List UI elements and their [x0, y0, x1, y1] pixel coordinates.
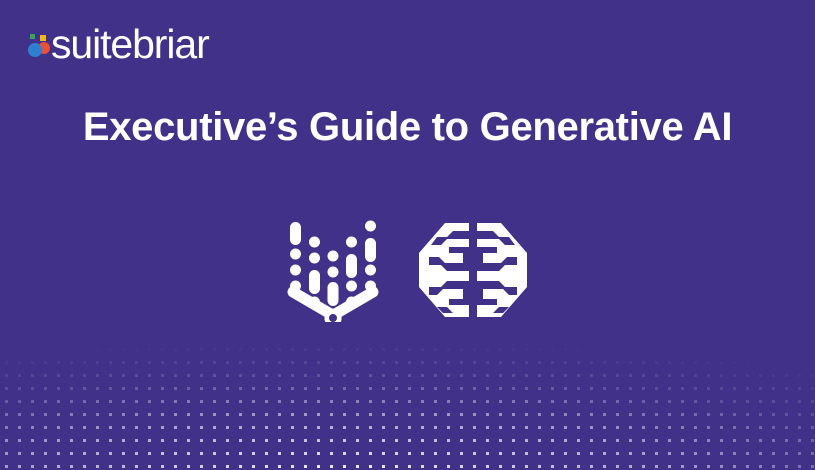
brand-logo[interactable]: suitebriar [28, 14, 209, 62]
logo-blue-circle-icon [28, 43, 42, 57]
logo-green-square-icon [30, 34, 35, 39]
icon-row [0, 218, 815, 322]
brand-wordmark: suitebriar [51, 28, 209, 62]
brain-circuit-icon [417, 221, 529, 319]
data-funnel-arrow-icon [287, 218, 379, 322]
page-title: Executive’s Guide to Generative AI [0, 105, 815, 150]
logo-yellow-square-icon [40, 35, 46, 41]
halftone-dot-field [0, 330, 815, 470]
slide-canvas: suitebriar Executive’s Guide to Generati… [0, 0, 815, 470]
suitebriar-logo-mark-icon [28, 34, 52, 60]
